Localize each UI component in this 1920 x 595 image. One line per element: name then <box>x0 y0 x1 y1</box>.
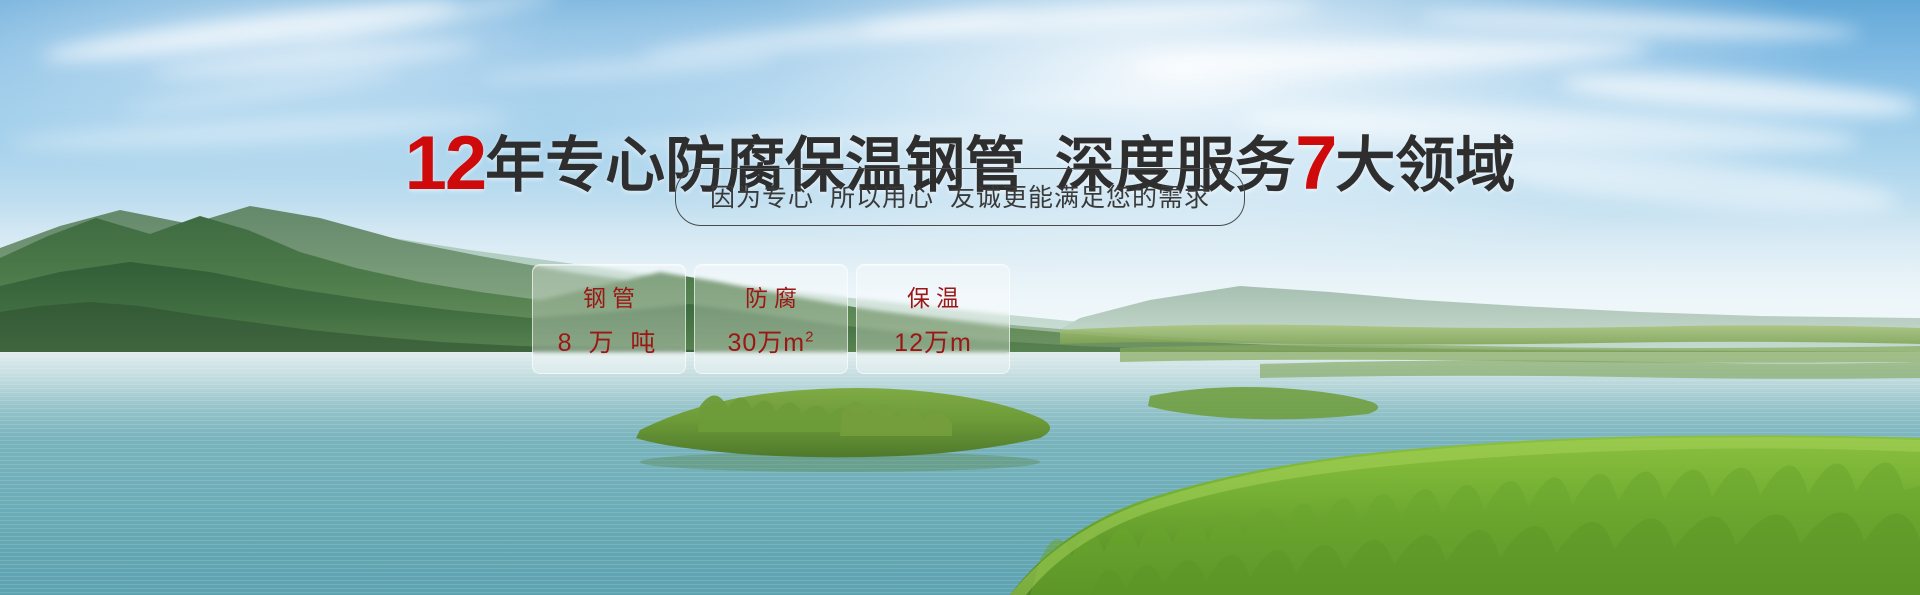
subtitle-segment-3: 友诚更能满足您的需求 <box>950 184 1210 212</box>
subtitle-segment-2: 所以用心 <box>830 184 934 212</box>
stat-card-steel-pipe: 钢管 8 万 吨 <box>532 264 686 374</box>
stat-card-anticorrosion: 防腐 30万m2 <box>694 264 848 374</box>
stat-value-superscript: 2 <box>805 329 814 346</box>
promo-banner: 12年专心防腐保温钢管深度服务7大领域 因为专心所以用心友诚更能满足您的需求 钢… <box>0 0 1920 595</box>
stat-label: 保温 <box>901 279 965 313</box>
stat-value: 30万m2 <box>728 323 815 359</box>
banner-content: 12年专心防腐保温钢管深度服务7大领域 因为专心所以用心友诚更能满足您的需求 钢… <box>0 0 1920 595</box>
stat-value-main: 30万m <box>728 329 806 357</box>
stat-value-main: 12万m <box>894 329 972 357</box>
stat-card-insulation: 保温 12万m <box>856 264 1010 374</box>
stat-label: 防腐 <box>739 279 803 313</box>
stat-value: 12万m <box>894 323 972 359</box>
stat-label: 钢管 <box>577 279 641 313</box>
stat-value-main: 8 万 吨 <box>558 329 661 357</box>
stat-value: 8 万 吨 <box>558 323 661 359</box>
banner-subtitle-container: 因为专心所以用心友诚更能满足您的需求 <box>0 168 1920 226</box>
subtitle-segment-1: 因为专心 <box>710 184 814 212</box>
banner-subtitle-pill: 因为专心所以用心友诚更能满足您的需求 <box>675 168 1245 226</box>
stat-card-group: 钢管 8 万 吨 防腐 30万m2 保温 12万m <box>532 264 1010 374</box>
